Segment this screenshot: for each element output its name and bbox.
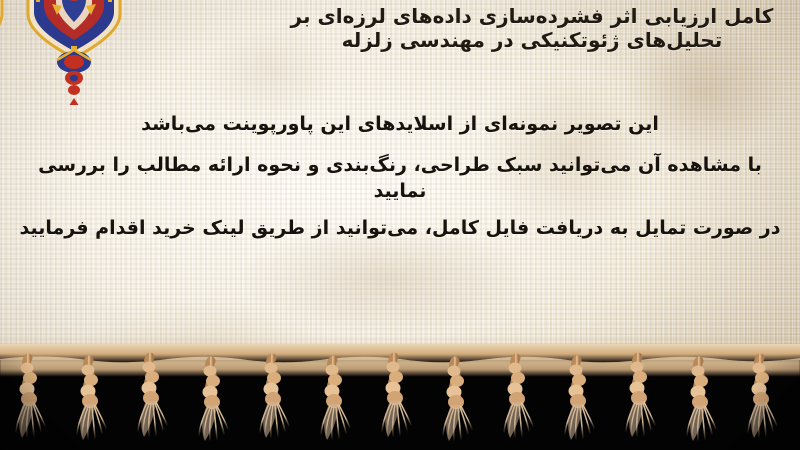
slide-body: این تصویر نمونه‌ای از اسلایدهای این پاور… [0, 112, 800, 254]
fringe-corner-shadow-right [710, 354, 800, 450]
slide-body-line-3: در صورت تمایل به دریافت فایل کامل، می‌تو… [0, 216, 800, 241]
slide-title-line-1: کامل ارزیابی اثر فشرده‌سازی داده‌های لرز… [272, 4, 792, 28]
slide-body-line-1: این تصویر نمونه‌ای از اسلایدهای این پاور… [0, 112, 800, 137]
carpet-knotted-fringe [0, 360, 800, 450]
persian-carpet-medallion-pendant-icon [22, 0, 126, 110]
presentation-slide: کامل ارزیابی اثر فشرده‌سازی داده‌های لرز… [0, 0, 800, 450]
slide-title-line-2: تحلیل‌های ژئوتکنیکی در مهندسی زلزله [272, 28, 792, 52]
slide-body-line-2: با مشاهده آن می‌توانید سبک طراحی، رنگ‌بن… [0, 153, 800, 204]
fringe-corner-shadow-left [0, 354, 90, 450]
ornament-group [0, 0, 120, 112]
fringe-tassels [0, 344, 800, 450]
slide-title: کامل ارزیابی اثر فشرده‌سازی داده‌های لرز… [272, 4, 792, 53]
persian-carpet-medallion-pendant-icon [0, 0, 8, 110]
